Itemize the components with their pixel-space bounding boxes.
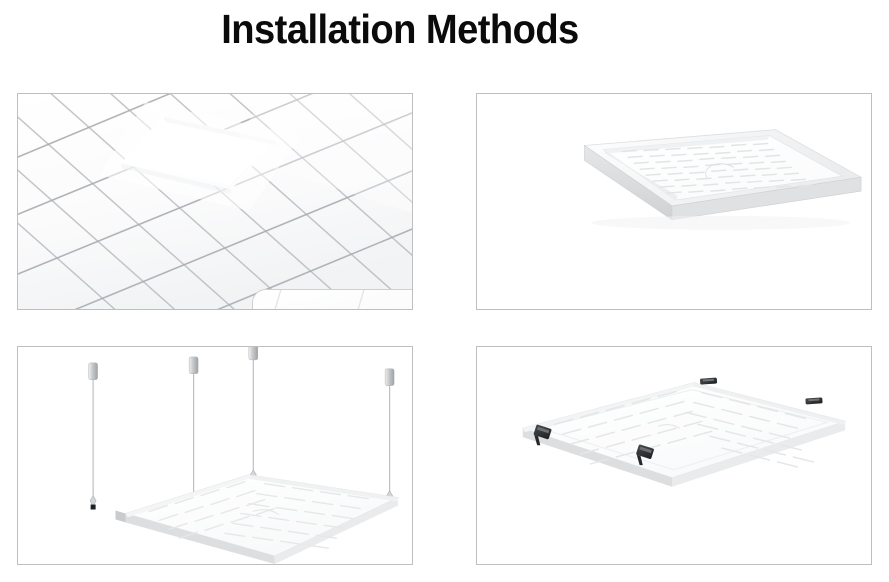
panel-recessed-installation: 1 Recessed Installation [17,93,413,310]
page-title: Installation Methods [28,6,772,53]
illustration-recessed-ceiling [18,94,412,309]
illustration-surface-mount-panel [477,94,871,309]
inset-detail-recessed [252,289,413,310]
panel-surface-mounting-installation: 3 Surface mounting Installation [476,93,872,310]
panel-suspension-installation: 2 Suspension Installation [17,346,413,565]
illustration-suspended-panel [18,347,412,564]
illustration-clip-mount-panel [477,347,871,564]
panel-clip-installation: 4 Clip Installation [476,346,872,565]
installation-methods-page: Installation Methods [0,0,889,582]
